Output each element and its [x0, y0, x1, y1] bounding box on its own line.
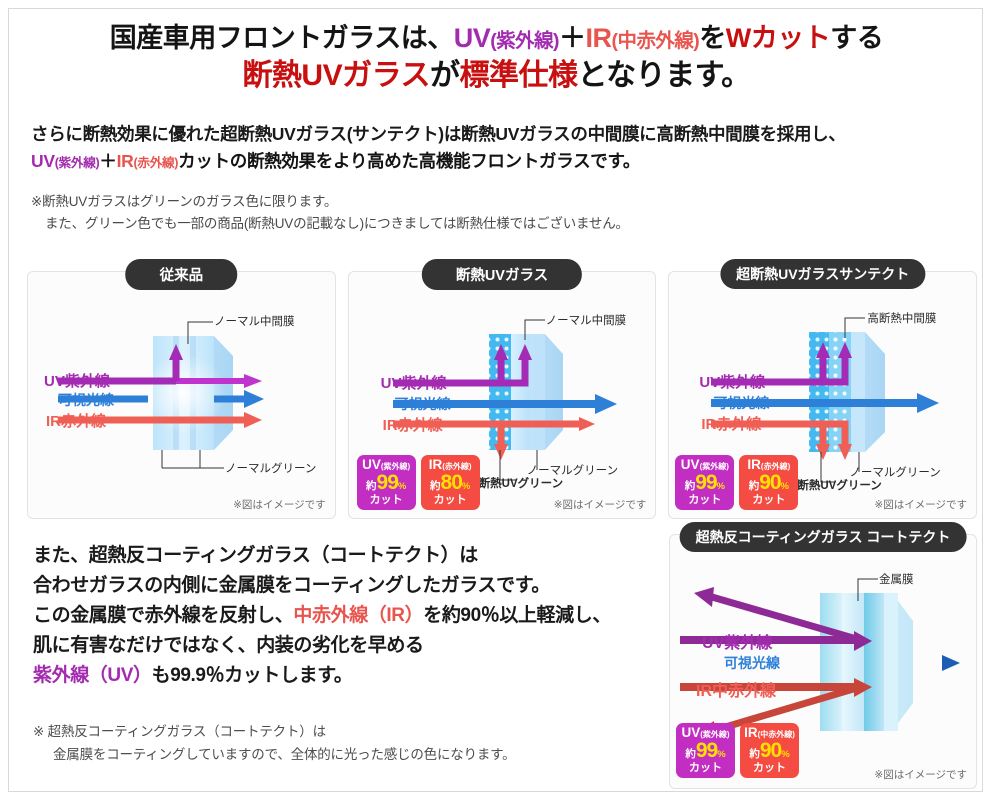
super-heat-insulating-suntect-badge-uv-value: 約99% — [675, 472, 734, 493]
super-heat-insulating-suntect-badge-ir: IR(赤外線)約90%カット — [739, 455, 798, 511]
label-ir-coattect: IR中赤外線 — [696, 677, 776, 701]
lead-bottom-heat-insulating-uv: 断熱UVグリーン — [479, 475, 563, 491]
coattect-badge-uv: UV(紫外線)約99%カット — [676, 723, 735, 779]
headline-2-run-1: が — [430, 59, 460, 92]
super-heat-insulating-suntect-badge-uv: UV(紫外線)約99%カット — [675, 455, 734, 511]
coattect-badge-uv-head: UV(紫外線) — [676, 726, 735, 740]
intro-paragraph: さらに断熱効果に優れた超断熱UVガラス(サンテクト)は断熱UVガラスの中間膜に高… — [31, 121, 971, 175]
heat-insulating-uv-badge-uv-head: UV(紫外線) — [357, 458, 416, 472]
coattect-badge-ir-head: IR(中赤外線) — [740, 726, 799, 740]
headline-line-1: 国産車用フロントガラスは、UV(紫外線)＋IR(中赤外線)をWカットする — [9, 23, 984, 55]
headline-1-run-3: ＋ — [559, 23, 586, 53]
heat-insulating-uv-badge-ir-head: IR(赤外線) — [421, 458, 480, 472]
label-uv-heat-insulating-uv: UV紫外線 — [381, 372, 447, 393]
label-uv-conventional: UV紫外線 — [44, 370, 110, 391]
headline-1-run-6: を — [699, 23, 726, 53]
coattect-line-3-a: この金属膜で赤外線を反射し、 — [33, 605, 293, 626]
diagram-heat-insulating-uv: UV紫外線 可視光線 IR赤外線 ノーマル中間膜 ノーマルグリーン 断熱UVグリ… — [349, 272, 656, 518]
label-visible-heat-insulating-uv: 可視光線 — [395, 394, 451, 414]
diagram-super-heat-insulating-suntect: UV紫外線 可視光線 IR赤外線 高断熱中間膜 ノーマルグリーン 断熱UVグリー… — [669, 272, 976, 518]
coattect-badge-ir-foot: カット — [740, 763, 799, 774]
headline-1-run-2: (紫外線) — [490, 30, 559, 52]
label-uv-super-heat-insulating-suntect: UV紫外線 — [699, 371, 765, 392]
coattect-badge-ir: IR(中赤外線)約90%カット — [740, 723, 799, 779]
super-heat-insulating-suntect-badge-uv-foot: カット — [675, 495, 734, 506]
heat-insulating-uv-badge-uv-foot: カット — [357, 495, 416, 506]
super-heat-insulating-suntect-badge-ir-value: 約90% — [739, 472, 798, 493]
label-visible-coattect: 可視光線 — [724, 653, 780, 673]
coattect-line-1: また、超熱反コーティングガラス（コートテクト）は — [33, 541, 653, 571]
super-heat-insulating-suntect-badge-uv-head: UV(紫外線) — [675, 458, 734, 472]
headline-1-run-7: Wカット — [726, 23, 830, 53]
label-ir-heat-insulating-uv: IR赤外線 — [383, 414, 443, 435]
headline-line-2: 断熱UVガラスが標準仕様となります。 — [9, 58, 984, 93]
page-frame: 国産車用フロントガラスは、UV(紫外線)＋IR(中赤外線)をWカットする 断熱U… — [8, 8, 983, 792]
page-headline: 国産車用フロントガラスは、UV(紫外線)＋IR(中赤外線)をWカットする 断熱U… — [9, 23, 984, 93]
panel-super-heat-insulating-suntect: 超断熱UVガラスサンテクト — [668, 271, 977, 519]
coattect-line-3: この金属膜で赤外線を反射し、中赤外線（IR）を約90％以上軽減し、 — [33, 601, 653, 631]
label-ir-super-heat-insulating-suntect: IR赤外線 — [701, 413, 761, 434]
lead-bottom-super-heat-insulating-suntect: 断熱UVグリーン — [797, 477, 881, 493]
paragraph-2-run-0: UV — [31, 151, 55, 171]
label-uv-coattect: UV紫外線 — [702, 629, 772, 653]
label-visible-conventional: 可視光線 — [58, 390, 114, 410]
coattect-badge-ir-value: 約90% — [740, 740, 799, 761]
coattect-badge-uv-value: 約99% — [676, 740, 735, 761]
panel-heat-insulating-uv: 断熱UVガラス — [348, 271, 657, 519]
coattect-line-2: 合わせガラスの内側に金属膜をコーティングしたガラスです。 — [33, 571, 653, 601]
super-heat-insulating-suntect-badge-ir-foot: カット — [739, 495, 798, 506]
top-note: ※断熱UVガラスはグリーンのガラス色に限ります。 また、グリーン色でも一部の商品… — [31, 191, 971, 235]
comparison-panels: 従来品 — [27, 271, 977, 519]
diagram-conventional: UV紫外線 可視光線 IR赤外線 ノーマル中間膜 ノーマルグリーン ※図はイメー… — [28, 272, 335, 518]
bottom-note: ※ 超熱反コーティングガラス（コートテクト）は 金属膜をコーティングしていますの… — [33, 721, 653, 767]
lead-top-super-heat-insulating-suntect: 高断熱中間膜 — [867, 310, 936, 326]
headline-1-run-5: (中赤外線) — [612, 30, 700, 52]
paragraph-2-run-2: ＋ — [99, 151, 116, 171]
super-heat-insulating-suntect-badge-ir-head: IR(赤外線) — [739, 458, 798, 472]
coattect-ir-highlight: 中赤外線（IR） — [293, 605, 423, 626]
headline-1-run-4: IR — [586, 23, 612, 53]
headline-1-run-1: UV — [454, 23, 491, 53]
badges-heat-insulating-uv: UV(紫外線)約99%カットIR(赤外線)約80%カット — [357, 455, 480, 511]
coattect-description: また、超熱反コーティングガラス（コートテクト）は 合わせガラスの内側に金属膜をコ… — [33, 541, 653, 691]
heat-insulating-uv-badge-uv: UV(紫外線)約99%カット — [357, 455, 416, 511]
paragraph-2-run-1: (紫外線) — [55, 156, 100, 170]
badges-super-heat-insulating-suntect: UV(紫外線)約99%カットIR(赤外線)約90%カット — [675, 455, 798, 511]
lead-top-conventional: ノーマル中間膜 — [214, 313, 295, 329]
headline-2-run-0: 断熱UVガラス — [242, 59, 430, 92]
paragraph-2-run-4: (赤外線) — [134, 156, 179, 170]
coattect-uv-highlight: 紫外線（UV） — [33, 665, 152, 686]
headline-2-run-3: となります。 — [577, 59, 750, 92]
lead-top-heat-insulating-uv: ノーマル中間膜 — [546, 312, 627, 328]
heat-insulating-uv-badge-uv-value: 約99% — [357, 472, 416, 493]
panel-coattect: 超熱反コーティングガラス コートテクト — [669, 534, 977, 789]
label-visible-super-heat-insulating-suntect: 可視光線 — [713, 393, 769, 413]
coattect-line-5: 紫外線（UV）も99.9％カットします。 — [33, 661, 653, 691]
coattect-line-5-b: も99.9％カットします。 — [152, 665, 353, 686]
badges-coattect: UV(紫外線)約99%カットIR(中赤外線)約90%カット — [676, 723, 799, 779]
image-note-heat-insulating-uv: ※図はイメージです — [554, 497, 647, 512]
image-note-super-heat-insulating-suntect: ※図はイメージです — [874, 497, 967, 512]
panel-conventional: 従来品 — [27, 271, 336, 519]
coattect-badge-uv-foot: カット — [676, 763, 735, 774]
heat-insulating-uv-badge-ir: IR(赤外線)約80%カット — [421, 455, 480, 511]
coattect-line-3-b: を約90％以上軽減し、 — [423, 605, 611, 626]
lead-metal-film-coattect: 金属膜 — [879, 571, 914, 587]
paragraph-2-run-5: カットの断熱効果をより高めた高機能フロントガラスです。 — [178, 151, 640, 171]
lead-bottom-conventional: ノーマルグリーン — [225, 460, 316, 476]
coattect-line-4: 肌に有害なだけではなく、内装の劣化を早める — [33, 631, 653, 661]
label-ir-conventional: IR赤外線 — [46, 410, 106, 431]
paragraph-2-run-3: IR — [117, 151, 134, 171]
heat-insulating-uv-badge-ir-value: 約80% — [421, 472, 480, 493]
diagram-coattect: UV紫外線 可視光線 IR中赤外線 金属膜 UV(紫外線)約99%カットIR(中… — [670, 535, 976, 788]
heat-insulating-uv-badge-ir-foot: カット — [421, 495, 480, 506]
bottom-note-line-2: 金属膜をコーティングしていますので、全体的に光った感じの色になります。 — [33, 744, 653, 767]
top-note-line-1: ※断熱UVガラスはグリーンのガラス色に限ります。 — [31, 194, 337, 209]
intro-paragraph-line-2: UV(紫外線)＋IR(赤外線)カットの断熱効果をより高めた高機能フロントガラスで… — [31, 148, 971, 175]
bottom-note-line-1: ※ 超熱反コーティングガラス（コートテクト）は — [33, 724, 326, 739]
headline-1-run-8: する — [830, 23, 883, 53]
image-note-coattect: ※図はイメージです — [874, 767, 967, 782]
headline-2-run-2: 標準仕様 — [459, 59, 577, 92]
top-note-line-2: また、グリーン色でも一部の商品(断熱UVの記載なし)につきましては断熱仕様ではご… — [31, 213, 971, 235]
image-note-conventional: ※図はイメージです — [233, 497, 326, 512]
headline-1-run-0: 国産車用フロントガラスは、 — [110, 23, 454, 53]
intro-paragraph-line-1: さらに断熱効果に優れた超断熱UVガラス(サンテクト)は断熱UVガラスの中間膜に高… — [31, 121, 971, 148]
